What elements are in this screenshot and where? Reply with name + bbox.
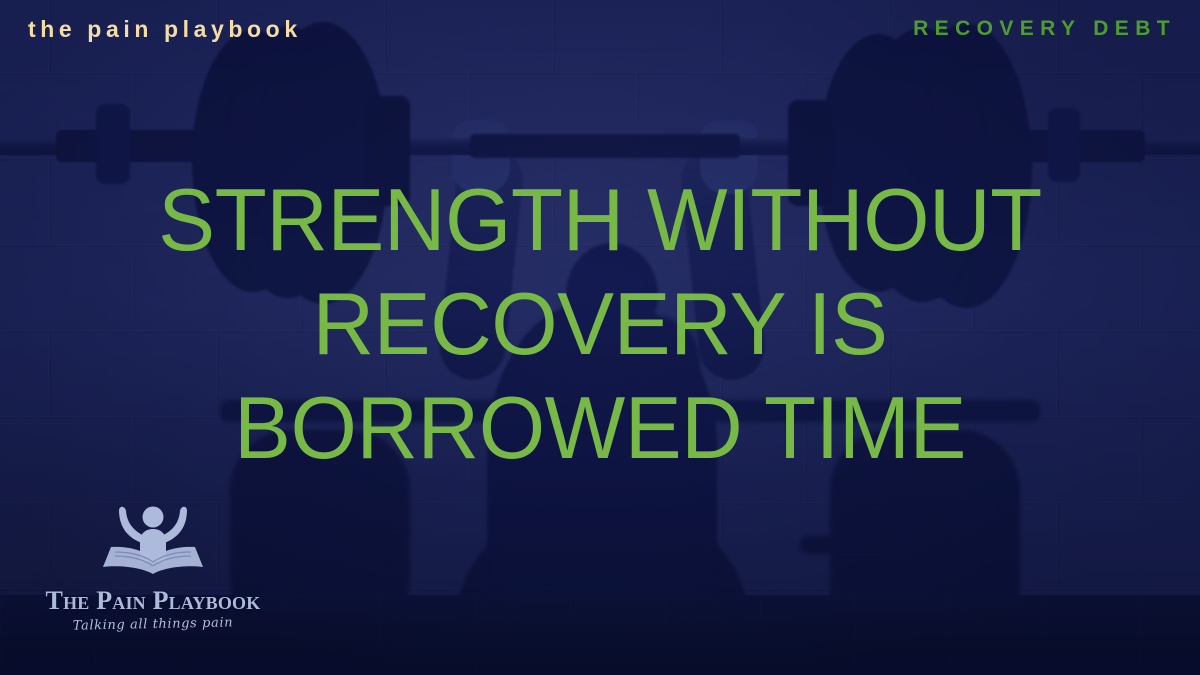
- logo-wordmark: The Pain Playbook: [38, 586, 268, 616]
- logo-tagline: Talking all things pain: [38, 615, 268, 636]
- person-rising-from-open-book-icon: [95, 500, 211, 584]
- logo-lockup: The Pain Playbook Talking all things pai…: [38, 500, 268, 633]
- brand-kicker: the pain playbook: [28, 16, 302, 43]
- page-title: STRENGTH WITHOUT RECOVERY IS BORROWED TI…: [18, 168, 1182, 480]
- headline-line-3: BORROWED TIME: [18, 376, 1182, 480]
- social-graphic-canvas: the pain playbook RECOVERY DEBT STRENGTH…: [0, 0, 1200, 675]
- topic-eyebrow: RECOVERY DEBT: [913, 17, 1176, 41]
- headline-line-1: STRENGTH WITHOUT: [18, 168, 1182, 272]
- headline-line-2: RECOVERY IS: [18, 272, 1182, 376]
